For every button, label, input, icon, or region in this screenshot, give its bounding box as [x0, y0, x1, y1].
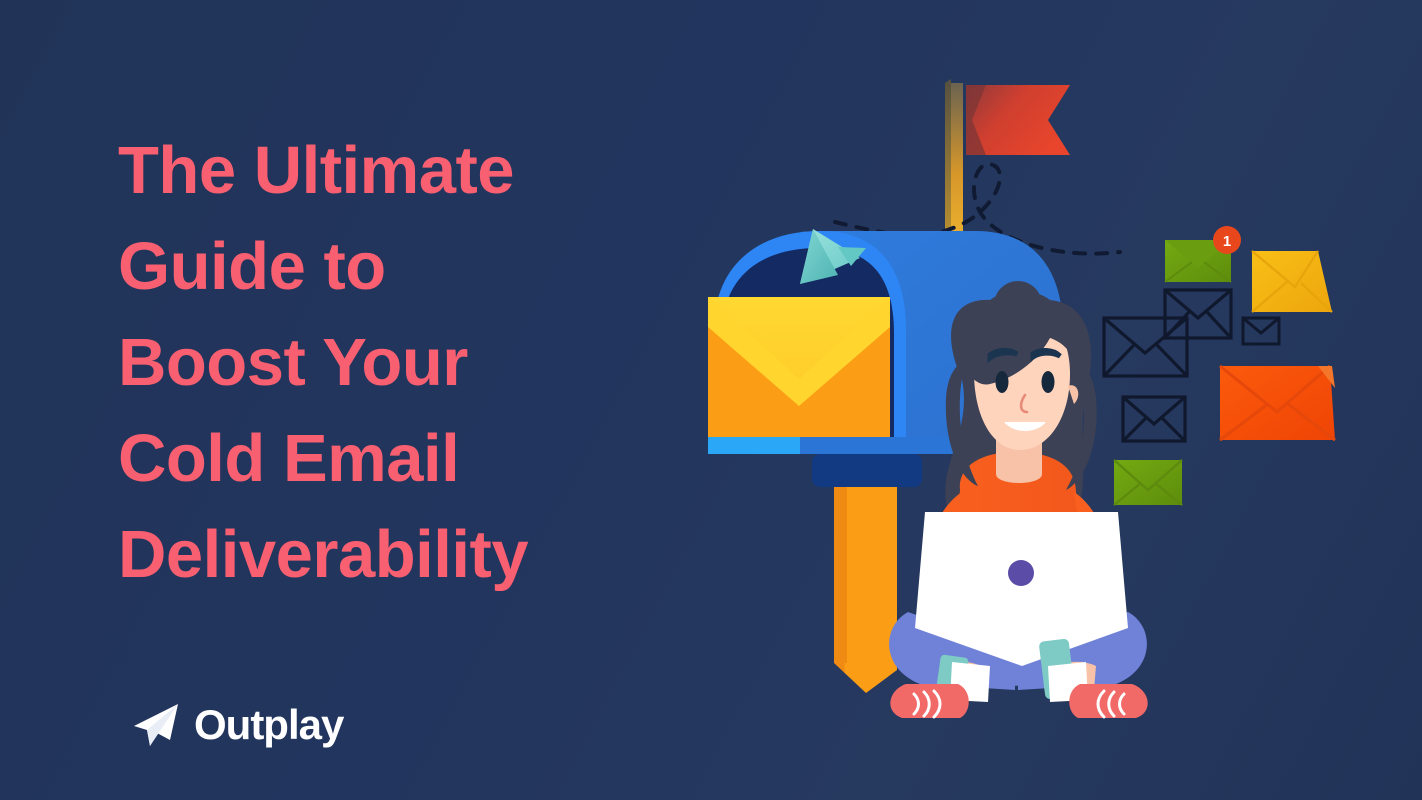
mailbox-base-plate	[812, 454, 922, 487]
outlined-envelope-b	[1104, 318, 1187, 376]
page-title: The Ultimate Guide to Boost Your Cold Em…	[118, 123, 678, 603]
outlined-envelope-a	[1165, 290, 1231, 338]
mailbox-post	[834, 487, 897, 693]
post-left-shade	[834, 487, 847, 663]
outlined-envelope-c	[1243, 318, 1279, 344]
yellow-envelope-tilted	[1252, 251, 1332, 312]
mailbox-bottom-strip	[708, 437, 800, 454]
green-envelope-bottom	[1114, 460, 1182, 505]
paper-plane-icon	[130, 702, 180, 748]
floating-envelopes: 1	[1104, 226, 1335, 505]
notification-badge: 1	[1213, 226, 1241, 254]
eye-right	[1042, 371, 1055, 393]
notification-badge-count: 1	[1223, 233, 1231, 250]
outlined-envelope-d	[1123, 397, 1185, 441]
laptop-logo	[1008, 560, 1034, 586]
logo-wordmark: Outplay	[194, 704, 343, 746]
orange-envelope-large	[1220, 366, 1335, 440]
poster-canvas: 1	[0, 0, 1422, 800]
brand-logo[interactable]: Outplay	[130, 702, 343, 748]
eye-left	[996, 371, 1009, 393]
yellow-letter-in-mailbox	[708, 297, 890, 437]
